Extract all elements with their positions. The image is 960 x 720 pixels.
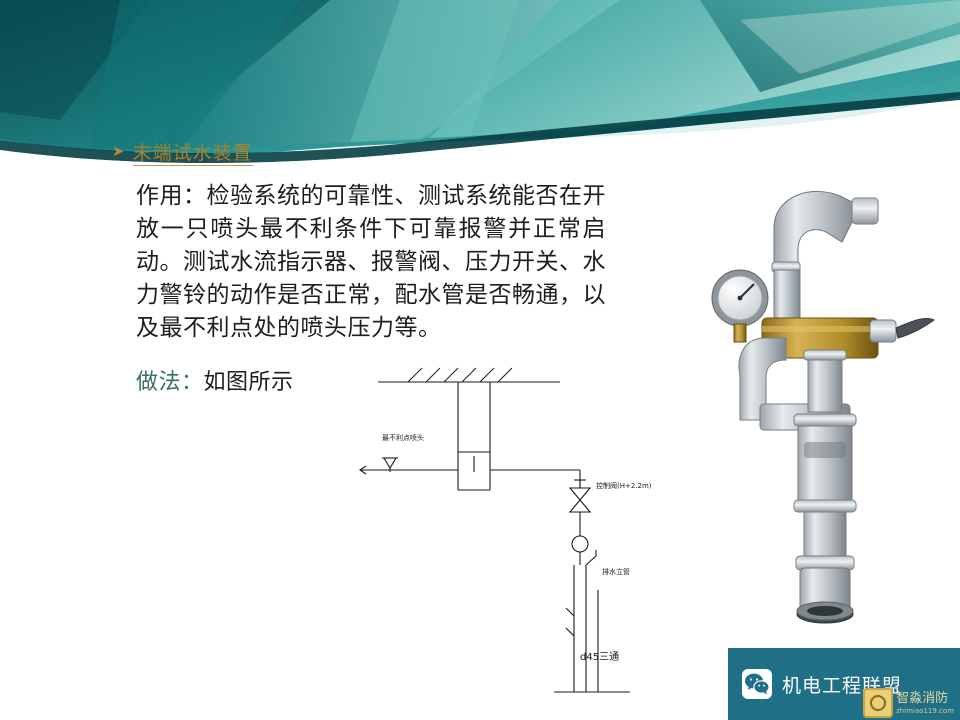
label-drain: 排水立管 — [602, 567, 630, 576]
bullet-row: ➤ 末端试水装置 — [112, 142, 632, 166]
test-valve-handle — [870, 318, 934, 342]
label-tee: d45三通 — [580, 651, 619, 663]
bullet-title: 末端试水装置 — [133, 142, 253, 166]
label-valve: 控制阀(H+2.2m) — [596, 481, 652, 490]
drain-outlet — [797, 568, 853, 623]
watermark-text-block: 智淼消防 zhimiao119.com — [896, 692, 954, 718]
slide-banner — [0, 0, 960, 165]
watermark: 智淼消防 zhimiao119.com — [863, 688, 954, 718]
wechat-icon — [742, 669, 772, 699]
slide: ➤ 末端试水装置 作用：检验系统的可靠性、测试系统能否在开放一只喷头最不利条件下… — [0, 0, 960, 720]
paragraph-purpose: 作用：检验系统的可靠性、测试系统能否在开放一只喷头最不利条件下可靠报警并正常启动… — [136, 180, 606, 345]
elbow-pipe — [774, 191, 860, 266]
paragraph-method-value: 如图所示 — [204, 370, 294, 395]
end-of-line-test-device-photo — [700, 170, 950, 650]
paragraph-method-label: 做法： — [136, 370, 204, 395]
schematic-drawing: 最不利点喷头 控制阀(H+2.2m) 排水立管 d45三通 — [340, 360, 660, 710]
triangle-right-icon: ➤ — [112, 142, 125, 162]
label-top-left: 最不利点喷头 — [382, 433, 424, 442]
shield-logo-icon — [863, 688, 893, 718]
sight-glass — [798, 418, 852, 504]
watermark-text: 智淼消防 — [896, 691, 948, 706]
pressure-gauge — [712, 270, 768, 342]
watermark-subtext: zhimiao119.com — [896, 705, 954, 718]
